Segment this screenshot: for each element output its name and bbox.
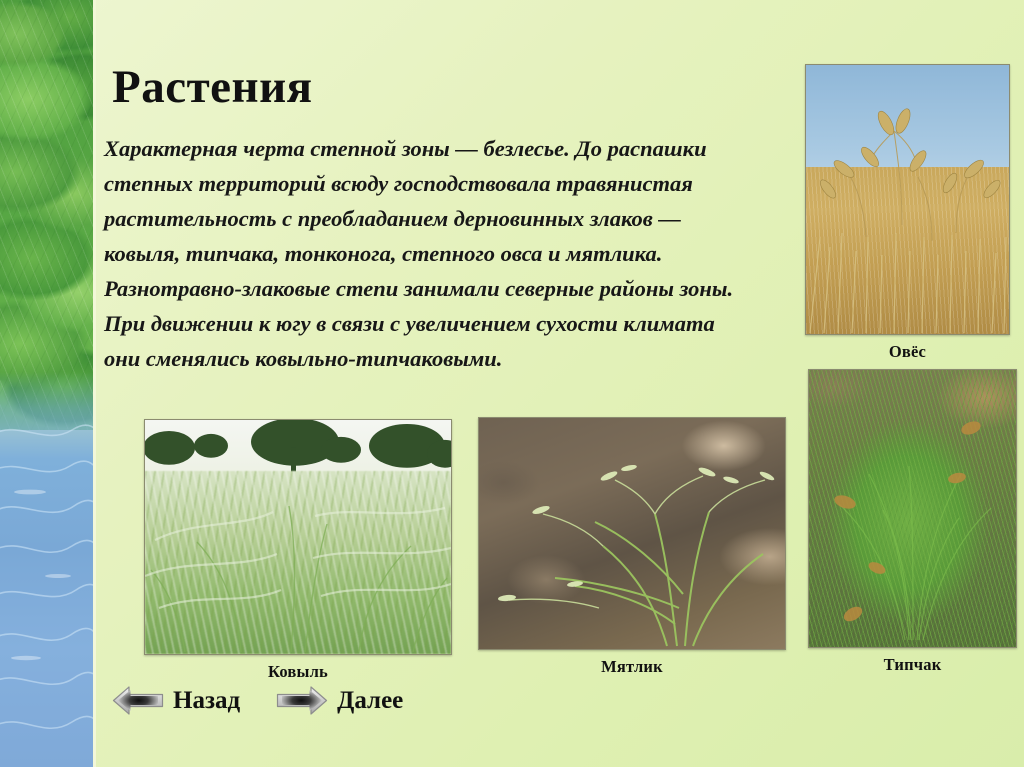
next-button-label: Далее [337,688,403,713]
arrow-right-icon[interactable] [276,684,328,717]
tipchak-leaves-layer [809,370,1016,647]
leaf-veins-overlay [0,0,93,430]
back-button[interactable]: Назад [112,684,240,717]
photo-kovyl [144,419,452,655]
photo-tipchak [808,369,1017,648]
water-waves-overlay [0,400,93,767]
body-paragraph: Характерная черта степной зоны — безлесь… [104,131,744,376]
back-button-label: Назад [173,688,240,713]
arrow-left-icon[interactable] [112,684,164,717]
page-title: Растения [112,64,313,111]
figure-kovyl: Ковыль [144,419,452,682]
slide-plants: Растения Характерная черта степной зоны … [0,0,1024,767]
myatlik-plant-layer [479,418,785,649]
photo-oats [805,64,1010,335]
next-button[interactable]: Далее [276,684,403,717]
caption-tipchak: Типчак [808,655,1017,675]
caption-kovyl: Ковыль [144,662,452,682]
figure-myatlik: Мятлик [478,417,786,677]
caption-oats: Овёс [805,342,1010,362]
kovyl-blades-layer [145,420,451,654]
photo-myatlik [478,417,786,650]
decorative-side-strip [0,0,96,767]
figure-tipchak: Типчак [808,369,1017,675]
oats-stalks-layer [806,65,1009,334]
figure-oats: Овёс [805,64,1010,362]
slide-navigation: Назад Далее [112,684,403,717]
caption-myatlik: Мятлик [478,657,786,677]
